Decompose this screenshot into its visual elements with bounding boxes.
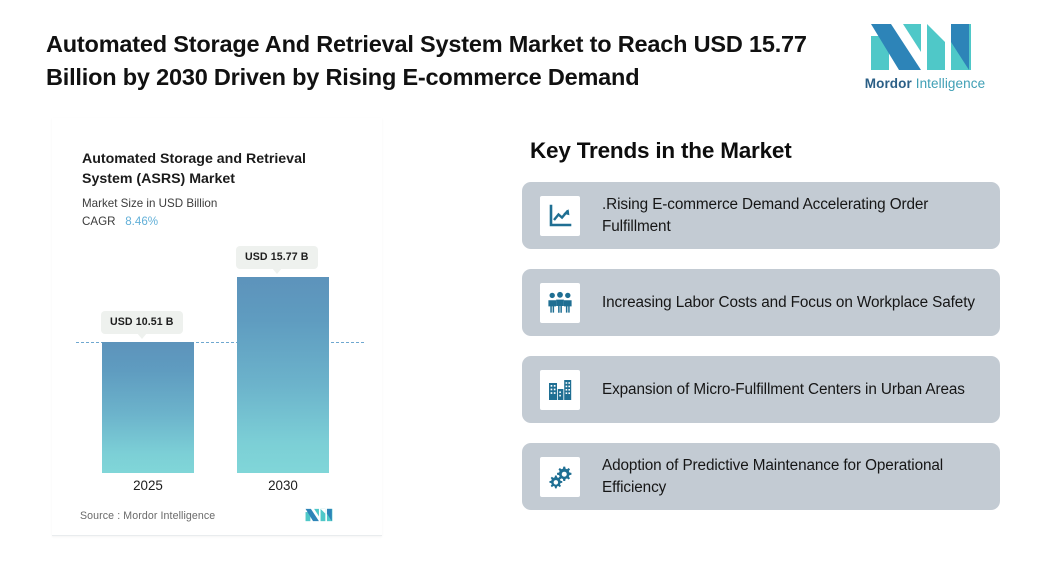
gears-icon	[540, 457, 580, 497]
brand-logo: Mordor Intelligence	[860, 22, 990, 97]
trend-card-3-text: Expansion of Micro-Fulfillment Centers i…	[602, 379, 986, 400]
chart-cagr: CAGR 8.46%	[82, 215, 158, 228]
key-trends-panel: Key Trends in the Market .Rising E-comme…	[522, 138, 1010, 510]
source-mordor-logo	[305, 508, 335, 522]
logo-word-intelligence: Intelligence	[916, 76, 986, 91]
trend-card-4-text: Adoption of Predictive Maintenance for O…	[602, 455, 986, 497]
trend-card-2-text: Increasing Labor Costs and Focus on Work…	[602, 292, 986, 313]
header: Automated Storage And Retrieval System M…	[0, 0, 1055, 112]
bar-value-label-2025: USD 10.51 B	[101, 311, 183, 334]
city-buildings-icon	[540, 370, 580, 410]
mordor-logo-mark	[869, 22, 981, 72]
bar-2025[interactable]	[102, 342, 194, 473]
chart-title: Automated Storage and Retrieval System (…	[82, 150, 342, 189]
logo-wordmark: Mordor Intelligence	[860, 76, 990, 91]
key-trends-title: Key Trends in the Market	[530, 138, 1010, 164]
bar-value-label-2030: USD 15.77 B	[236, 246, 318, 269]
page-title: Automated Storage And Retrieval System M…	[46, 28, 836, 95]
chart-subtitle: Market Size in USD Billion	[82, 197, 217, 210]
trend-card-2[interactable]: Increasing Labor Costs and Focus on Work…	[522, 269, 1000, 336]
cagr-value: 8.46%	[125, 215, 158, 228]
bar-chart-plot: USD 10.51 B USD 15.77 B	[52, 238, 382, 473]
trend-card-3[interactable]: Expansion of Micro-Fulfillment Centers i…	[522, 356, 1000, 423]
x-axis-labels: 2025 2030	[52, 478, 382, 500]
people-group-icon	[540, 283, 580, 323]
bar-2030[interactable]	[237, 277, 329, 473]
cagr-label: CAGR	[82, 215, 116, 228]
trend-card-1-text: .Rising E-commerce Demand Accelerating O…	[602, 194, 986, 236]
x-tick-2030: 2030	[237, 478, 329, 493]
trend-card-1[interactable]: .Rising E-commerce Demand Accelerating O…	[522, 182, 1000, 249]
chart-source: Source : Mordor Intelligence	[80, 510, 215, 522]
trend-card-4[interactable]: Adoption of Predictive Maintenance for O…	[522, 443, 1000, 510]
logo-word-mordor: Mordor	[865, 76, 912, 91]
x-tick-2025: 2025	[102, 478, 194, 493]
chart-card: Automated Storage and Retrieval System (…	[52, 118, 382, 536]
line-chart-up-icon	[540, 196, 580, 236]
infographic-page: Automated Storage And Retrieval System M…	[0, 0, 1055, 579]
